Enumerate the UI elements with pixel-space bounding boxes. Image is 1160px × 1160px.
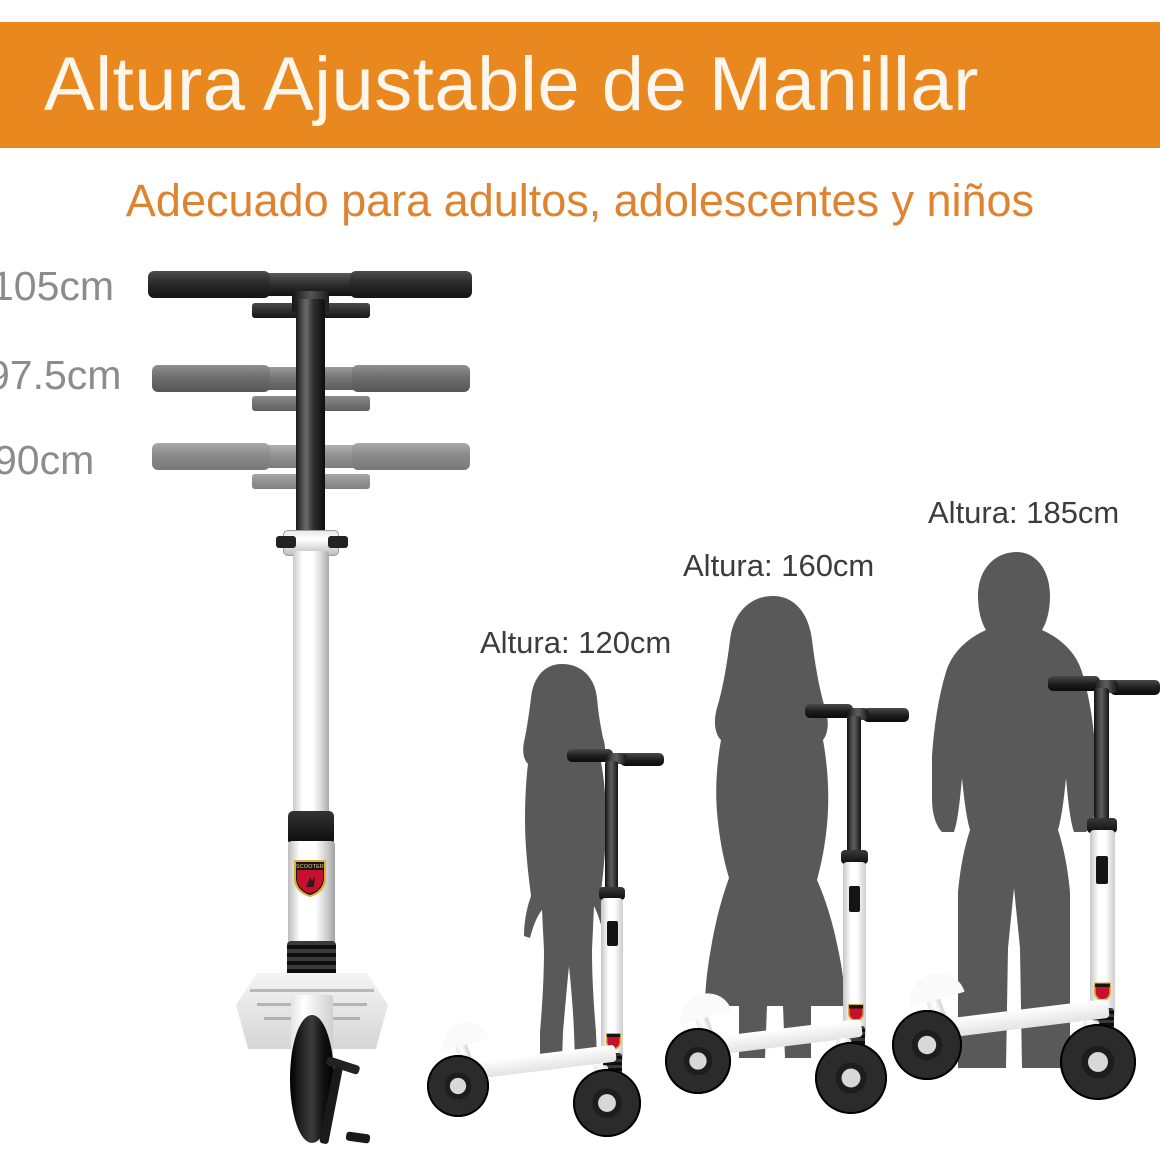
- scooter-shield-badge: SCOOTER: [292, 857, 328, 899]
- subtitle-text: Adecuado para adultos, adolescentes y ni…: [0, 178, 1160, 223]
- svg-text:SCOOTER: SCOOTER: [296, 864, 324, 870]
- adult-scooter-rear-wheel: [1060, 1024, 1136, 1100]
- handlebar-height-label-97-5: 97.5cm: [0, 355, 121, 396]
- adult-scooter-grip-left: [1048, 676, 1100, 691]
- handlebar-height-label-90: 90cm: [0, 440, 94, 481]
- kickstand-foot: [345, 1131, 370, 1143]
- header-banner: Altura Ajustable de Manillar: [0, 22, 1160, 148]
- child-scooter-rear-wheel: [573, 1069, 641, 1137]
- rider-height-label-185: Altura: 185cm: [928, 497, 1119, 528]
- stem-lower-clamp: [288, 811, 334, 845]
- rider-height-label-160: Altura: 160cm: [683, 550, 874, 581]
- deck-grip-line: [250, 989, 374, 992]
- teen-scooter-front-wheel: [665, 1028, 731, 1094]
- adult-scooter-front-wheel: [892, 1010, 962, 1080]
- shield-icon: SCOOTER: [292, 857, 328, 899]
- collar-lever-right: [328, 536, 348, 548]
- page-title: Altura Ajustable de Manillar: [44, 47, 979, 123]
- infographic-page: Altura Ajustable de Manillar Adecuado pa…: [0, 0, 1160, 1160]
- stem-white-upper: [293, 551, 329, 841]
- adult-scooter-warning-label: [1096, 856, 1108, 884]
- child-scooter-warning-label: [607, 921, 618, 946]
- side-scooter-adult: [880, 660, 1160, 1120]
- collar-lever-left: [276, 536, 296, 548]
- handlebar-height-label-105: 105cm: [0, 266, 114, 307]
- teen-scooter-rear-wheel: [815, 1042, 887, 1114]
- teen-scooter-warning-label: [849, 886, 860, 912]
- stem-black-tube: [296, 299, 325, 545]
- child-scooter-stem-tube: [605, 761, 618, 896]
- child-scooter-front-wheel: [427, 1055, 489, 1117]
- teen-scooter-stem-tube: [847, 716, 861, 858]
- adult-scooter-stem-tube: [1094, 688, 1109, 826]
- rider-height-label-120: Altura: 120cm: [480, 627, 671, 658]
- teen-scooter-grip-left: [805, 704, 853, 718]
- side-scooter-child: [415, 735, 665, 1135]
